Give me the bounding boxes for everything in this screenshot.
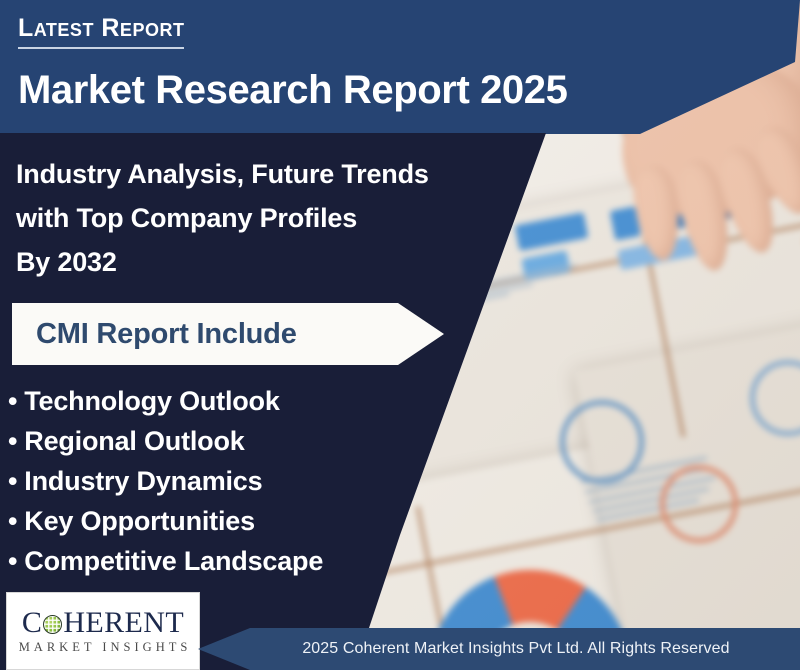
subtitle-line-2: with Top Company Profiles	[16, 196, 429, 240]
logo-wordmark: C HERENT	[22, 608, 184, 638]
footer-bar: 2025 Coherent Market Insights Pvt Ltd. A…	[198, 628, 800, 670]
page-title: Market Research Report 2025	[18, 70, 567, 110]
list-item-label: Key Opportunities	[24, 506, 255, 536]
logo-tagline: MARKET INSIGHTS	[19, 641, 192, 654]
list-item-label: Regional Outlook	[24, 426, 244, 456]
list-item: •Industry Dynamics	[8, 461, 323, 501]
list-item: •Key Opportunities	[8, 501, 323, 541]
bullet-marker: •	[8, 506, 17, 536]
logo-word-part-1: C	[22, 608, 42, 638]
bullet-marker: •	[8, 466, 17, 496]
bullet-marker: •	[8, 386, 17, 416]
list-item-label: Competitive Landscape	[24, 546, 323, 576]
copyright-text: 2025 Coherent Market Insights Pvt Ltd. A…	[268, 640, 729, 658]
green-globe-icon	[43, 615, 62, 634]
bullet-marker: •	[8, 426, 17, 456]
report-inclusions-list: •Technology Outlook •Regional Outlook •I…	[8, 381, 323, 581]
company-logo: C HERENT MARKET INSIGHTS	[6, 592, 200, 670]
cmi-banner-label: CMI Report Include	[36, 318, 297, 351]
report-poster: Latest Report Market Research Report 202…	[0, 0, 800, 670]
list-item: •Regional Outlook	[8, 421, 323, 461]
subtitle-line-1: Industry Analysis, Future Trends	[16, 152, 429, 196]
kicker-label: Latest Report	[18, 16, 184, 49]
list-item-label: Industry Dynamics	[24, 466, 262, 496]
bullet-marker: •	[8, 546, 17, 576]
subtitle-line-3: By 2032	[16, 240, 429, 284]
cmi-report-include-banner: CMI Report Include	[12, 303, 444, 365]
list-item: •Technology Outlook	[8, 381, 323, 421]
list-item-label: Technology Outlook	[24, 386, 279, 416]
logo-word-part-2: HERENT	[63, 608, 184, 638]
list-item: •Competitive Landscape	[8, 541, 323, 581]
subtitle-block: Industry Analysis, Future Trends with To…	[16, 152, 429, 284]
